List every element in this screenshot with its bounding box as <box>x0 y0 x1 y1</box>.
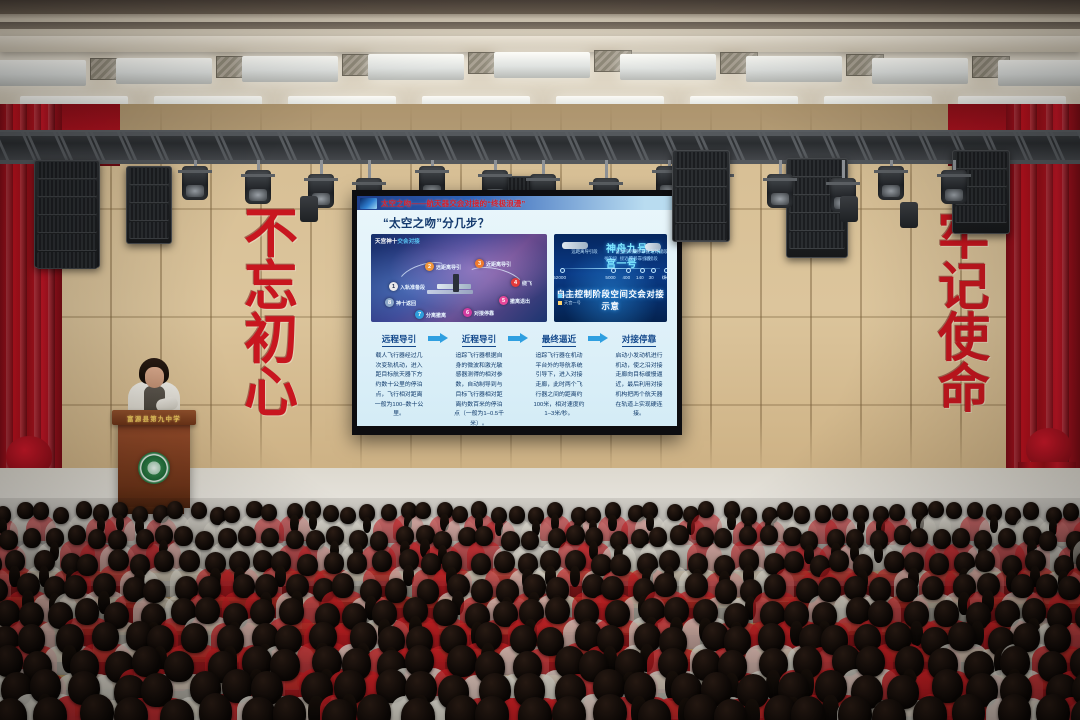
student-head <box>998 528 1016 548</box>
student-head <box>77 554 98 576</box>
par-can-light <box>840 196 858 222</box>
sequence-badge-label: 远距离导引 <box>436 264 461 271</box>
presenter-face <box>145 367 164 388</box>
ceiling-beam <box>0 0 1080 14</box>
student-head <box>64 575 87 600</box>
line-array-speaker <box>126 166 172 244</box>
student-head <box>179 550 200 572</box>
student-head <box>238 526 256 546</box>
student-ponytail <box>874 544 884 563</box>
student-head <box>297 554 318 576</box>
student-head <box>108 549 129 571</box>
student-head <box>447 645 476 677</box>
ceiling-light-panel <box>998 60 1080 86</box>
presentation-slide: 太空之吻——航天器交会对接的“终极浪漫” “太空之吻”分几步？ 天宫神十交会对接… <box>357 196 677 426</box>
student-head <box>509 506 525 523</box>
ceiling-light-panel <box>620 54 716 80</box>
student-head <box>889 504 905 521</box>
school-name-plate: 富源县第九中学 <box>127 413 181 423</box>
student-head <box>88 529 106 549</box>
slide-figure-row: 天宫神十交会对接 1入轨准备段2远距离导引3近距离导引4绕飞5撤离退出6对接停靠… <box>371 234 667 322</box>
student-head <box>385 578 408 603</box>
diagram-tag-highlight: 交会对接 <box>397 239 419 245</box>
timeline-phase-band: 平移靠拢与对接段 <box>632 249 667 255</box>
step-arrow-icon <box>427 333 451 344</box>
student-head <box>0 530 18 550</box>
student-head <box>685 573 708 598</box>
timeline-legend: 神舟九号 天宫一号 <box>558 293 581 306</box>
student-head <box>605 600 630 627</box>
ceiling-light-panel <box>242 56 338 82</box>
student-head <box>494 551 515 573</box>
student-head <box>1044 624 1071 653</box>
step-arrow-icon <box>587 333 611 344</box>
student-head <box>181 623 208 652</box>
student-head <box>415 502 431 519</box>
student-head <box>764 574 787 599</box>
slogan-char: 命 <box>938 365 991 416</box>
student-head <box>347 552 368 574</box>
slogan-char: 初 <box>244 314 299 367</box>
sequence-badge: 8 <box>385 298 394 307</box>
sequence-badge-label: 神十返回 <box>396 300 416 307</box>
timeline-node <box>560 268 565 273</box>
legend-entry: 天宫一号 <box>564 300 581 305</box>
student-head <box>922 576 945 601</box>
timeline-value: 5000 <box>605 275 615 280</box>
step-label-row: 远程导引 近程导引 最终逼近 对接停靠 <box>371 329 667 347</box>
student-head <box>92 622 119 651</box>
student-head <box>261 528 279 548</box>
slide-heading: “太空之吻”分几步？ <box>383 215 490 231</box>
student-head <box>381 504 397 521</box>
timeline-phase: 对接段 <box>645 256 658 262</box>
slide-titlebar: 太空之吻——航天器交会对接的“终极浪漫” <box>357 196 677 210</box>
student-head <box>832 504 848 521</box>
ceiling-light-panel <box>746 56 842 82</box>
student-head <box>610 554 631 576</box>
student-head <box>829 550 850 572</box>
ceiling-soffit <box>0 36 1080 52</box>
student-head <box>714 528 732 548</box>
student-head <box>246 501 262 518</box>
lectern-header: 富源县第九中学 <box>112 410 196 425</box>
student-head <box>698 501 714 518</box>
sequence-badge-label: 入轨准备段 <box>400 284 425 291</box>
docking-sequence-diagram: 天宫神十交会对接 1入轨准备段2远距离导引3近距离导引4绕飞5撤离退出6对接停靠… <box>371 234 547 322</box>
student-ponytail <box>608 515 616 531</box>
student-head <box>323 505 339 522</box>
student-head <box>33 502 49 519</box>
slogan-char: 忘 <box>244 261 299 314</box>
step-label: 近程导引 <box>462 333 496 347</box>
projection-screen[interactable]: 太空之吻——航天器交会对接的“终极浪漫” “太空之吻”分几步？ 天宫神十交会对接… <box>352 190 682 435</box>
moving-head-light <box>878 166 904 200</box>
ceiling-light-panel <box>872 58 968 84</box>
student-head <box>1036 694 1070 720</box>
student-head <box>340 507 356 524</box>
step-label: 最终逼近 <box>542 333 576 347</box>
par-can-light <box>900 202 918 228</box>
par-can-light <box>300 196 318 222</box>
timeline-node <box>626 268 631 273</box>
step-body: 启动小发动机进行机动，使之沿对接走廊向目标缓慢逼近，最后利用对接机构把两个航天器… <box>611 352 667 420</box>
student-head <box>948 622 975 651</box>
ceiling-light-panel <box>116 58 212 84</box>
step-body: 载人飞行器经过几次变轨机动，进入距目标航天器下方约数十公里的停泊点，飞行相对距离… <box>371 352 427 420</box>
student-head <box>929 553 950 575</box>
student-head <box>286 530 304 550</box>
student-head <box>261 504 277 521</box>
student-head <box>760 525 778 545</box>
moving-head-light <box>182 166 208 200</box>
student-head <box>967 502 983 519</box>
step-body-row: 载人飞行器经过几次变轨机动，进入距目标航天器下方约数十公里的停泊点，飞行相对距离… <box>371 347 667 426</box>
sequence-badge: 2 <box>425 262 434 271</box>
ceiling-light-panel <box>368 54 464 80</box>
student-head <box>794 506 810 523</box>
student-ponytail <box>116 515 124 531</box>
slide-title-text: 太空之吻——航天器交会对接的“终极浪漫” <box>381 198 525 209</box>
slogan-char: 不 <box>244 208 299 261</box>
student-head <box>521 531 539 551</box>
sequence-badge: 6 <box>463 308 472 317</box>
student-head <box>1039 531 1057 551</box>
student-head <box>167 501 183 518</box>
moving-head-light <box>767 174 793 208</box>
timeline-phase-band: 远距离导引段 <box>571 249 597 255</box>
lectern: 富源县第九中学 <box>118 418 190 508</box>
student-head <box>143 579 166 604</box>
student-head <box>739 526 757 546</box>
auditorium-photo: 不 忘 初 心 牢 记 使 命 太空之吻——航天器交会对接的“终极浪漫” “太空… <box>0 0 1080 720</box>
ceiling-light-panel <box>0 60 86 86</box>
line-array-speaker <box>672 150 730 242</box>
student-head <box>433 599 458 626</box>
space-thumbnail-icon <box>360 198 377 209</box>
slogan-char: 心 <box>244 367 299 420</box>
student-head <box>475 526 493 546</box>
timeline-unit: （米） <box>659 275 667 281</box>
sequence-badge: 7 <box>415 310 424 319</box>
student-head <box>1023 502 1039 519</box>
student-head <box>952 528 970 548</box>
wall-slogan-right: 牢 记 使 命 <box>938 212 991 416</box>
student-head <box>566 525 584 545</box>
step-label: 对接停靠 <box>622 333 656 347</box>
student-head <box>928 501 944 518</box>
timeline-value: 140 <box>636 275 644 280</box>
school-crest-icon <box>138 452 170 484</box>
slogan-char: 记 <box>938 263 991 314</box>
student-head <box>670 525 688 545</box>
student-head <box>910 528 928 548</box>
slogan-char: 使 <box>938 314 991 365</box>
legend-entry: 神舟九号 <box>564 293 581 298</box>
step-label: 远程导引 <box>382 333 416 347</box>
step-body: 追踪飞行器在机动平台外的导航系统引导下，进入对接走廊，此时两个飞行器之间的距离约… <box>531 352 587 420</box>
timeline-value: 52000 <box>554 275 566 280</box>
diagram-tag: 天宫神十交会对接 <box>375 237 420 245</box>
student-head <box>154 550 175 572</box>
student-head <box>191 502 207 519</box>
wall-slogan-left: 不 忘 初 心 <box>244 208 299 420</box>
spacecraft-glyph <box>453 274 459 292</box>
student-head <box>784 551 805 573</box>
ceiling-beam <box>0 22 1080 29</box>
sequence-badge: 3 <box>475 259 484 268</box>
student-head <box>856 646 885 678</box>
student-head <box>654 573 677 598</box>
step-body: 追踪飞行器根据自身的微波和激光敏感器测得的相对参数，自动制导到与目标飞行器相对距… <box>451 352 507 426</box>
student-head <box>601 576 624 601</box>
sequence-badge: 4 <box>511 278 520 287</box>
sequence-badge-label: 撤离退出 <box>510 298 530 305</box>
moving-head-light <box>941 170 967 204</box>
spacecraft-glyph <box>427 290 473 294</box>
timeline-value: 400 <box>622 275 630 280</box>
line-array-speaker <box>34 160 100 268</box>
student-head <box>777 502 793 519</box>
timeline-node <box>611 268 616 273</box>
student-head <box>545 597 570 624</box>
sequence-badge-label: 分离撤离 <box>426 312 446 319</box>
student-head <box>1058 576 1080 601</box>
timeline-phase: 寻的段 <box>604 256 617 262</box>
sequence-badge-label: 对接停靠 <box>474 310 494 317</box>
step-arrow-icon <box>507 333 531 344</box>
student-head <box>279 598 304 625</box>
student-head <box>868 600 893 627</box>
process-steps: 远程导引 近程导引 最终逼近 对接停靠 载人飞行器经过几次变轨机动，进入距目标航… <box>371 329 667 426</box>
diagram-tag-main: 天宫神十 <box>375 239 397 245</box>
student-head <box>174 526 192 546</box>
sequence-badge: 5 <box>499 296 508 305</box>
ceiling-light-panel <box>494 52 590 78</box>
student-head <box>975 550 996 572</box>
student-head <box>475 696 509 720</box>
student-head <box>324 552 345 574</box>
sequence-badge-label: 近距离导引 <box>486 261 511 268</box>
student-head <box>76 501 92 518</box>
timeline-node <box>664 268 667 273</box>
student-head <box>372 550 393 572</box>
student-head <box>23 528 41 548</box>
shenzhou-glyph <box>562 242 588 249</box>
student-head <box>195 597 220 624</box>
student-head <box>869 577 892 602</box>
student-head <box>332 573 355 598</box>
rendezvous-timeline-diagram: 神舟九号/天宫一号 520005000寻的段400接近段140平移靠拢段30对接… <box>554 234 667 322</box>
timeline-node <box>651 268 656 273</box>
sequence-badge: 1 <box>389 282 398 291</box>
student-head <box>224 506 240 523</box>
student-head <box>1063 503 1079 520</box>
sequence-badge-label: 绕飞 <box>522 280 532 287</box>
student-head <box>75 598 100 625</box>
student-audience <box>0 498 1080 720</box>
student-head <box>53 507 69 524</box>
timeline-value: 30 <box>649 275 654 280</box>
timeline-node <box>640 268 645 273</box>
student-head <box>108 530 126 550</box>
moving-head-light <box>245 170 271 204</box>
student-head <box>195 531 213 551</box>
student-head <box>68 525 86 545</box>
student-head <box>667 504 683 521</box>
student-head <box>18 624 45 653</box>
student-head <box>370 531 388 551</box>
student-head <box>946 502 962 519</box>
